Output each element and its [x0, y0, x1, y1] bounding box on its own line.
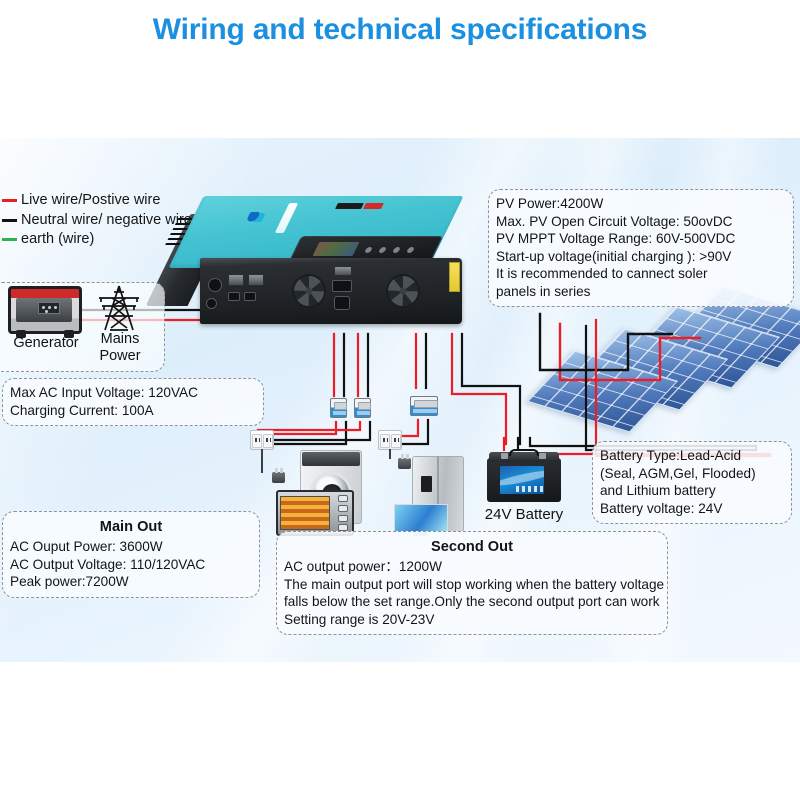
- wire-right-red-loop: [596, 320, 770, 456]
- port-ac-input: [208, 278, 222, 292]
- mains-power-text: Mains Power: [99, 331, 140, 364]
- power-plug: [398, 458, 411, 469]
- transmission-tower-icon: [92, 284, 146, 332]
- callout-main-output-specs: Main Out AC Ouput Power: 3600W AC Output…: [2, 511, 260, 598]
- legend-item-neutral: Neutral wire/ negative wire: [2, 211, 192, 231]
- main-out-header: Main Out: [10, 517, 252, 537]
- dash-icon: [2, 199, 17, 202]
- wire-battery-negative: [462, 334, 520, 444]
- page-title: Wiring and technical specifications: [0, 13, 800, 47]
- callout-ac-input-specs: Max AC Input Voltage: 120VAC Charging Cu…: [2, 378, 264, 426]
- legend-label: Live wire/Postive wire: [21, 191, 160, 211]
- diagram-canvas: Generator Mains Power: [0, 138, 800, 662]
- second-out-header: Second Out: [284, 537, 660, 557]
- wall-outlet: [378, 430, 402, 450]
- battery-label: 24V Battery: [468, 506, 580, 523]
- cooling-fan-icon: [292, 274, 326, 308]
- wall-outlet: [250, 430, 274, 450]
- legend-item-live: Live wire/Postive wire: [2, 191, 192, 211]
- terminal-block-3: [334, 266, 352, 276]
- lcd-screen: [313, 242, 360, 256]
- wire-color-legend: Live wire/Postive wire Neutral wire/ neg…: [2, 191, 192, 250]
- port-comm: [244, 292, 256, 301]
- hybrid-solar-inverter: [186, 196, 476, 331]
- generator-icon: [8, 286, 82, 334]
- port-battery: [334, 296, 350, 310]
- callout-battery-specs: Battery Type:Lead-Acid (Seal, AGM,Gel, F…: [592, 441, 792, 524]
- wire-pv-positive: [560, 324, 700, 380]
- toaster-oven-icon: [276, 490, 354, 536]
- legend-item-earth: earth (wire): [2, 230, 192, 250]
- wire-breaker3-neutral: [400, 420, 428, 448]
- port-rs485: [228, 292, 240, 301]
- terminal-block-2: [248, 274, 264, 286]
- dash-icon: [2, 238, 17, 241]
- callout-second-output-specs: Second Out AC output power：1200W The mai…: [276, 531, 668, 635]
- callout-pv-specs: PV Power:4200W Max. PV Open Circuit Volt…: [488, 189, 794, 307]
- brand-wordmark: [334, 202, 387, 212]
- high-voltage-warning-icon: [449, 262, 460, 292]
- legend-label: Neutral wire/ negative wire: [21, 211, 192, 231]
- generator-label: Generator: [0, 335, 92, 351]
- power-plug: [272, 472, 285, 483]
- inverter-front-panel: [200, 258, 462, 324]
- legend-label: earth (wire): [21, 230, 94, 250]
- wire-battery-positive: [452, 334, 506, 444]
- terminal-block-1: [228, 274, 244, 286]
- dash-icon: [2, 219, 17, 222]
- mains-power-label: Mains Power: [90, 331, 150, 364]
- display-buttons[interactable]: [364, 247, 423, 253]
- circuit-breaker: [330, 398, 347, 418]
- cooling-fan-icon: [386, 274, 420, 308]
- port-second-output: [332, 280, 352, 292]
- circuit-breaker-double: [410, 396, 438, 416]
- diagram-root: Wiring and technical specifications: [0, 0, 800, 800]
- battery-icon: [487, 450, 561, 502]
- circuit-breaker: [354, 398, 371, 418]
- wire-right-black-loop: [586, 326, 756, 450]
- port-ground: [206, 298, 217, 309]
